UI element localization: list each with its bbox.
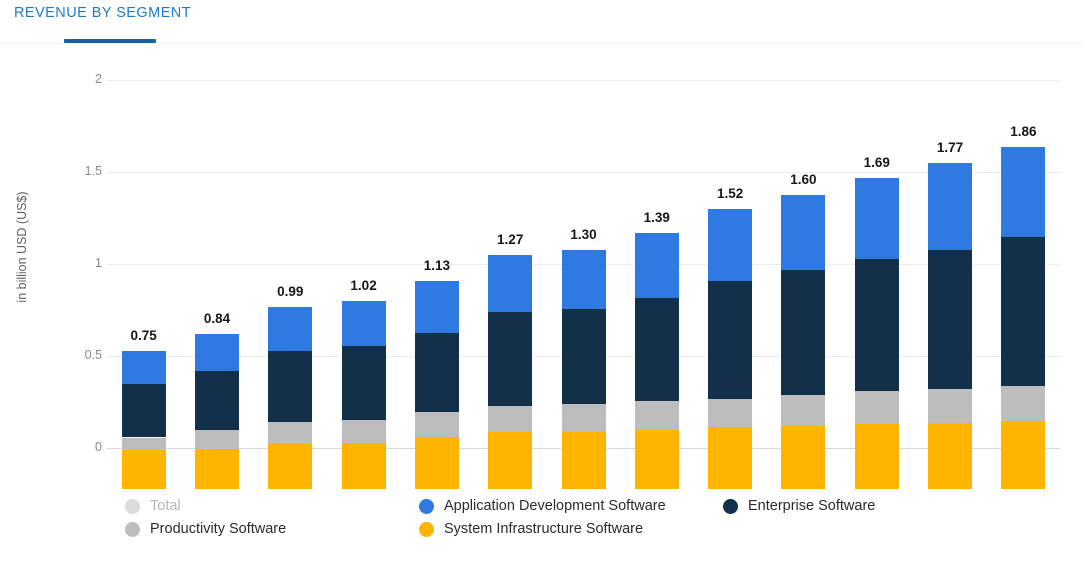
legend-item[interactable]: Enterprise Software	[723, 498, 875, 514]
bar-series-group: 0.7520160.8420170.9920181.0220191.132020…	[107, 44, 1060, 489]
bar-total-label: 1.39	[624, 210, 690, 225]
bar-segment-prod[interactable]	[708, 399, 752, 428]
bar-segment-sys[interactable]	[342, 443, 386, 489]
bar-segment-prod[interactable]	[195, 430, 239, 448]
bar-segment-prod[interactable]	[928, 389, 972, 423]
legend-item[interactable]: System Infrastructure Software	[419, 521, 643, 537]
bar-segment-sys[interactable]	[268, 444, 312, 489]
bar-total-label: 1.52	[697, 186, 763, 201]
bar-total-label: 1.02	[331, 278, 397, 293]
bar-segment-prod[interactable]	[781, 395, 825, 425]
bar-segment-ent[interactable]	[342, 346, 386, 420]
bar-total-label: 1.60	[770, 172, 836, 187]
bar-segment-sys[interactable]	[635, 430, 679, 489]
bar-segment-ent[interactable]	[195, 371, 239, 430]
bar-column[interactable]: 1.522024	[697, 85, 763, 489]
bar-segment-prod[interactable]	[342, 420, 386, 443]
bar-segment-ent[interactable]	[635, 298, 679, 401]
bar-segment-app[interactable]	[708, 209, 752, 281]
bar-column[interactable]: 1.772027	[917, 85, 983, 489]
legend-color-swatch-icon	[125, 499, 140, 514]
bar-total-label: 0.84	[184, 311, 250, 326]
bar-segment-ent[interactable]	[562, 309, 606, 405]
bar-segment-app[interactable]	[122, 351, 166, 384]
bar-segment-ent[interactable]	[708, 281, 752, 399]
bar-column[interactable]: 1.272021	[477, 85, 543, 489]
bar-segment-prod[interactable]	[635, 401, 679, 430]
bar-total-label: 0.99	[257, 284, 323, 299]
bar-total-label: 1.13	[404, 258, 470, 273]
bar-segment-sys[interactable]	[122, 450, 166, 489]
bar-segment-ent[interactable]	[415, 333, 459, 412]
tab-active-underline	[64, 39, 156, 43]
legend-item-label: Application Development Software	[444, 498, 666, 514]
chart-plot-area: 00.511.52 in billion USD (US$) 0.7520160…	[0, 44, 1083, 489]
bar-segment-sys[interactable]	[488, 432, 532, 489]
legend-item-label: Total	[150, 498, 181, 514]
y-axis-label: in billion USD (US$)	[15, 107, 29, 387]
y-axis-tick-label: 1.5	[62, 164, 102, 178]
bar-segment-ent[interactable]	[1001, 237, 1045, 386]
chart-legend: TotalApplication Development SoftwareEnt…	[0, 489, 1083, 565]
bar-segment-app[interactable]	[928, 163, 972, 249]
bar-column[interactable]: 1.862028	[990, 85, 1056, 489]
bar-segment-app[interactable]	[562, 250, 606, 309]
bar-segment-app[interactable]	[1001, 147, 1045, 237]
chart-tab-bar: REVENUE BY SEGMENT	[0, 0, 1083, 44]
bar-column[interactable]: 0.992018	[257, 85, 323, 489]
y-axis-tick-label: 2	[62, 72, 102, 86]
bar-segment-prod[interactable]	[122, 438, 166, 451]
bar-segment-app[interactable]	[195, 334, 239, 371]
bar-segment-sys[interactable]	[781, 426, 825, 489]
bar-segment-ent[interactable]	[122, 384, 166, 437]
bar-column[interactable]: 1.132020	[404, 85, 470, 489]
bar-total-label: 1.27	[477, 232, 543, 247]
bar-segment-sys[interactable]	[928, 423, 972, 489]
legend-item-label: System Infrastructure Software	[444, 521, 643, 537]
bar-segment-ent[interactable]	[855, 259, 899, 391]
bar-segment-app[interactable]	[268, 307, 312, 351]
bar-column[interactable]: 1.692026	[844, 85, 910, 489]
bar-segment-app[interactable]	[342, 301, 386, 346]
legend-color-swatch-icon	[125, 522, 140, 537]
legend-item[interactable]: Application Development Software	[419, 498, 666, 514]
bar-segment-ent[interactable]	[928, 250, 972, 389]
legend-color-swatch-icon	[419, 499, 434, 514]
bar-segment-app[interactable]	[488, 255, 532, 312]
y-axis-tick-label: 1	[62, 256, 102, 270]
y-axis-ticks: 00.511.52	[40, 44, 102, 489]
bar-column[interactable]: 1.602025	[770, 85, 836, 489]
bar-column[interactable]: 1.302022	[551, 85, 617, 489]
bar-segment-prod[interactable]	[1001, 386, 1045, 421]
bar-segment-sys[interactable]	[562, 432, 606, 489]
bar-column[interactable]: 1.022019	[331, 85, 397, 489]
tab-revenue-by-segment[interactable]: REVENUE BY SEGMENT	[14, 5, 191, 21]
bar-column[interactable]: 1.392023	[624, 85, 690, 489]
bar-segment-ent[interactable]	[268, 351, 312, 422]
bar-total-label: 1.77	[917, 140, 983, 155]
bar-column[interactable]: 0.842017	[184, 85, 250, 489]
y-axis-tick-label: 0	[62, 440, 102, 454]
bar-segment-sys[interactable]	[855, 424, 899, 489]
bar-total-label: 1.30	[551, 227, 617, 242]
legend-item[interactable]: Productivity Software	[125, 521, 286, 537]
bar-segment-prod[interactable]	[415, 412, 459, 438]
bar-total-label: 0.75	[111, 328, 177, 343]
y-axis-tick-label: 0.5	[62, 348, 102, 362]
bar-segment-sys[interactable]	[415, 437, 459, 489]
legend-color-swatch-icon	[419, 522, 434, 537]
bar-segment-app[interactable]	[635, 233, 679, 297]
bar-segment-prod[interactable]	[268, 422, 312, 444]
bar-column[interactable]: 0.752016	[111, 85, 177, 489]
bar-segment-ent[interactable]	[781, 270, 825, 395]
bar-segment-sys[interactable]	[1001, 421, 1045, 489]
bar-segment-app[interactable]	[781, 195, 825, 270]
legend-item[interactable]: Total	[125, 498, 181, 514]
legend-color-swatch-icon	[723, 499, 738, 514]
bar-segment-app[interactable]	[415, 281, 459, 333]
bar-segment-sys[interactable]	[708, 427, 752, 489]
bar-segment-sys[interactable]	[195, 449, 239, 489]
bar-segment-app[interactable]	[855, 178, 899, 259]
bar-total-label: 1.86	[990, 124, 1056, 139]
bar-segment-prod[interactable]	[855, 391, 899, 424]
bar-total-label: 1.69	[844, 155, 910, 170]
bar-segment-prod[interactable]	[562, 404, 606, 432]
bar-segment-ent[interactable]	[488, 312, 532, 406]
bar-segment-prod[interactable]	[488, 406, 532, 432]
legend-item-label: Enterprise Software	[748, 498, 875, 514]
legend-item-label: Productivity Software	[150, 521, 286, 537]
